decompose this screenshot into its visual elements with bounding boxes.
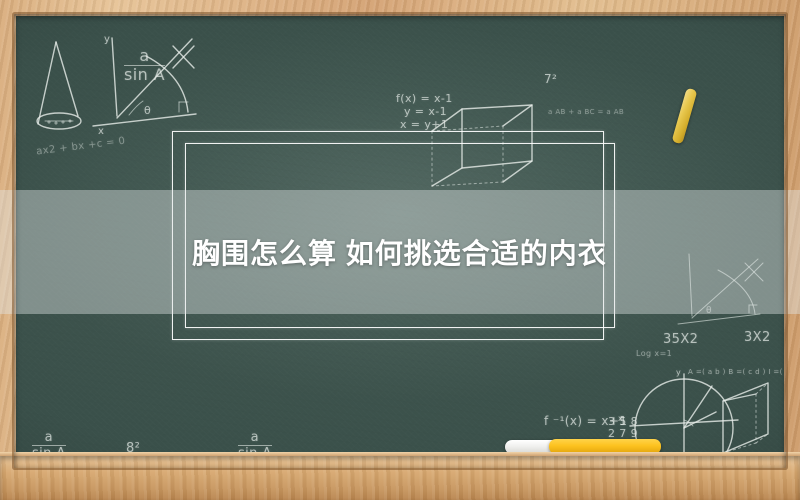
screenshot-stage: a sin A y x θ ax2 + bx +c = 0 f(x) = x-1… — [0, 0, 800, 500]
frame-inner-shadow — [14, 14, 786, 468]
